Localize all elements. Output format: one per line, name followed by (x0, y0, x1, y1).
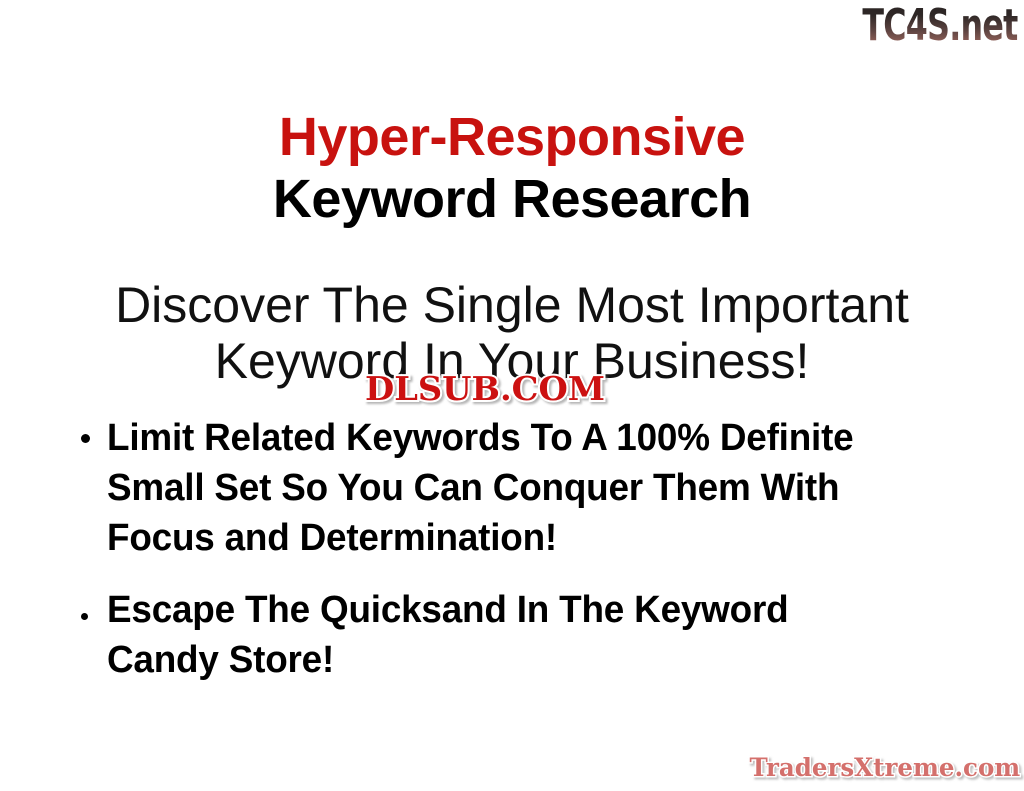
page-title-line-2: Keyword Research (0, 168, 1024, 230)
tradersxtreme-watermark: TradersXtreme.com (749, 753, 1020, 783)
list-item-text: Escape The Quicksand In The Keyword Cand… (107, 585, 867, 685)
bullet-dot-icon (81, 434, 90, 443)
list-item-text: Limit Related Keywords To A 100% Definit… (107, 413, 867, 563)
list-item: Limit Related Keywords To A 100% Definit… (70, 413, 890, 563)
page-title-line-1: Hyper-Responsive (0, 106, 1024, 168)
title-block: Hyper-Responsive Keyword Research (0, 106, 1024, 230)
bullet-dot-icon (81, 613, 88, 620)
subtitle-line-1: Discover The Single Most Important (0, 277, 1024, 333)
dlsub-watermark: DLSUB.COM (365, 371, 605, 407)
bullet-list: Limit Related Keywords To A 100% Definit… (70, 413, 890, 707)
tc4s-watermark: TC4S.net (863, 1, 1018, 51)
slide-canvas: TC4S.net Hyper-Responsive Keyword Resear… (0, 0, 1024, 791)
list-item: Escape The Quicksand In The Keyword Cand… (70, 585, 890, 685)
